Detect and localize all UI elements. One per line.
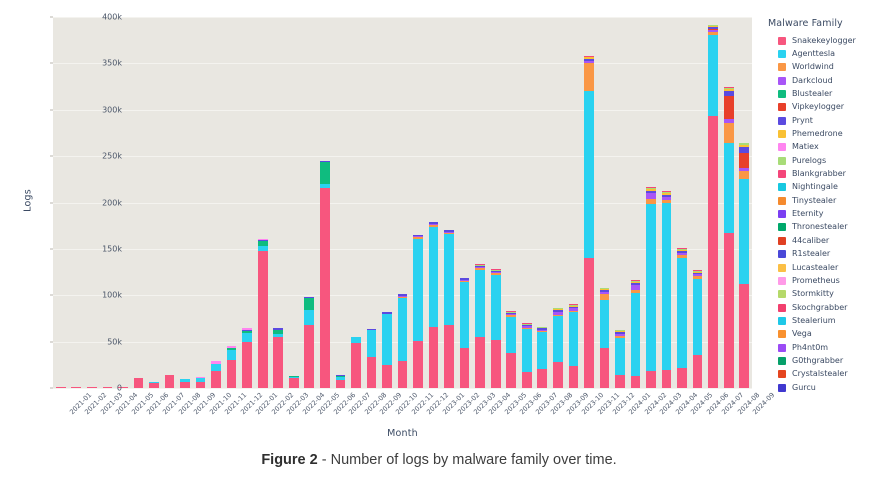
- bar-segment[interactable]: [537, 369, 547, 388]
- bar-segment[interactable]: [460, 348, 470, 388]
- bar-column[interactable]: [677, 248, 687, 388]
- bar-segment[interactable]: [429, 327, 439, 388]
- bar-segment[interactable]: [444, 234, 454, 325]
- legend-color-swatch-icon: [778, 290, 786, 298]
- legend-item[interactable]: Blustealer: [764, 87, 878, 100]
- bar-segment[interactable]: [336, 380, 346, 388]
- legend-item-label: Tinystealer: [792, 197, 836, 205]
- legend-item-label: Worldwind: [792, 63, 834, 71]
- gridline: [53, 63, 752, 64]
- legend-item-label: Agenttesla: [792, 50, 835, 58]
- legend-item[interactable]: Vipkeylogger: [764, 101, 878, 114]
- legend-item[interactable]: Tinystealer: [764, 194, 878, 207]
- bar-segment[interactable]: [724, 96, 734, 119]
- y-tick-mark: [50, 109, 53, 110]
- bar-segment[interactable]: [662, 370, 672, 388]
- legend-item-label: Snakekeylogger: [792, 37, 856, 45]
- bar-column[interactable]: [180, 379, 190, 388]
- legend-color-swatch-icon: [778, 357, 786, 365]
- bar-segment[interactable]: [475, 337, 485, 388]
- bar-column[interactable]: [336, 375, 346, 388]
- legend-title: Malware Family: [768, 18, 878, 29]
- bar-segment[interactable]: [413, 341, 423, 388]
- bar-column[interactable]: [149, 382, 159, 388]
- legend-color-swatch-icon: [778, 317, 786, 325]
- bar-segment[interactable]: [739, 153, 749, 168]
- bar-column[interactable]: [242, 328, 252, 388]
- bar-segment[interactable]: [600, 348, 610, 388]
- bar-column[interactable]: [600, 288, 610, 389]
- bar-segment[interactable]: [273, 337, 283, 388]
- legend-color-swatch-icon: [778, 90, 786, 98]
- legend-item-label: Vipkeylogger: [792, 103, 844, 111]
- bar-segment[interactable]: [708, 35, 718, 117]
- bar-column[interactable]: [475, 264, 485, 388]
- legend-color-swatch-icon: [778, 117, 786, 125]
- legend-color-swatch-icon: [778, 63, 786, 71]
- bar-column[interactable]: [304, 297, 314, 388]
- bar-segment[interactable]: [491, 275, 501, 340]
- legend-item-label: Ph4nt0m: [792, 344, 828, 352]
- bar-segment[interactable]: [615, 375, 625, 388]
- legend-color-swatch-icon: [778, 304, 786, 312]
- bar-segment[interactable]: [165, 375, 175, 388]
- legend-items: SnakekeyloggerAgentteslaWorldwindDarkclo…: [764, 34, 878, 394]
- bar-segment[interactable]: [506, 317, 516, 353]
- legend-item-label: Blustealer: [792, 90, 832, 98]
- bar-segment[interactable]: [631, 293, 641, 376]
- bar-segment[interactable]: [677, 258, 687, 367]
- bar-segment[interactable]: [522, 372, 532, 388]
- legend-item-label: Crystalstealer: [792, 370, 848, 378]
- y-tick-mark: [50, 388, 53, 389]
- bar-column[interactable]: [289, 376, 299, 388]
- legend-item[interactable]: R1stealer: [764, 248, 878, 261]
- legend-item[interactable]: Matiex: [764, 141, 878, 154]
- legend-color-swatch-icon: [778, 103, 786, 111]
- legend-item-label: R1stealer: [792, 250, 830, 258]
- legend-color-swatch-icon: [778, 170, 786, 178]
- bar-segment[interactable]: [584, 91, 594, 258]
- bar-column[interactable]: [258, 239, 268, 388]
- bar-segment[interactable]: [320, 188, 330, 388]
- legend-item[interactable]: Skochgrabber: [764, 301, 878, 314]
- legend-item[interactable]: Lucastealer: [764, 261, 878, 274]
- legend-item-label: G0thgrabber: [792, 357, 843, 365]
- legend-item[interactable]: Stealerium: [764, 314, 878, 327]
- legend-color-swatch-icon: [778, 237, 786, 245]
- y-tick-mark: [50, 17, 53, 18]
- legend-item[interactable]: G0thgrabber: [764, 354, 878, 367]
- bar-segment[interactable]: [196, 382, 206, 388]
- bar-column[interactable]: [693, 270, 703, 388]
- legend-item-label: Lucastealer: [792, 264, 838, 272]
- y-tick-mark: [50, 202, 53, 203]
- bar-segment[interactable]: [351, 343, 361, 388]
- y-tick-label: 250k: [76, 152, 122, 161]
- legend-color-swatch-icon: [778, 183, 786, 191]
- bar-segment[interactable]: [615, 338, 625, 375]
- legend-color-swatch-icon: [778, 143, 786, 151]
- legend-item-label: Skochgrabber: [792, 304, 847, 312]
- bar-segment[interactable]: [211, 371, 221, 388]
- legend-item[interactable]: Gurcu: [764, 381, 878, 394]
- plot-area: [53, 17, 752, 388]
- bar-segment[interactable]: [242, 333, 252, 342]
- legend-item-label: Blankgrabber: [792, 170, 846, 178]
- figure-label: Figure 2: [261, 452, 317, 468]
- bar-segment[interactable]: [491, 340, 501, 388]
- legend-color-swatch-icon: [778, 130, 786, 138]
- legend-color-swatch-icon: [778, 157, 786, 165]
- legend-item[interactable]: Vega: [764, 328, 878, 341]
- legend-item-label: Nightingale: [792, 183, 838, 191]
- bar-segment[interactable]: [382, 365, 392, 388]
- legend-item[interactable]: Nightingale: [764, 181, 878, 194]
- bar-column[interactable]: [413, 235, 423, 388]
- legend-color-swatch-icon: [778, 77, 786, 85]
- bar-segment[interactable]: [569, 312, 579, 366]
- legend-color-swatch-icon: [778, 210, 786, 218]
- legend-color-swatch-icon: [778, 384, 786, 392]
- bar-segment[interactable]: [522, 329, 532, 373]
- bar-column[interactable]: [491, 269, 501, 388]
- y-tick-label: 200k: [76, 198, 122, 207]
- bar-segment[interactable]: [413, 239, 423, 341]
- bar-segment[interactable]: [320, 162, 330, 184]
- x-axis-title: Month: [53, 428, 752, 439]
- bar-segment[interactable]: [227, 350, 237, 361]
- bar-column[interactable]: [196, 377, 206, 388]
- bar-segment[interactable]: [646, 371, 656, 388]
- bar-column[interactable]: [522, 323, 532, 388]
- legend-item[interactable]: Prometheus: [764, 274, 878, 287]
- bar-segment[interactable]: [304, 325, 314, 388]
- gridline: [53, 156, 752, 157]
- bar-segment[interactable]: [258, 251, 268, 388]
- legend-item[interactable]: Prynt: [764, 114, 878, 127]
- legend-item[interactable]: Phemedrone: [764, 127, 878, 140]
- bar-segment[interactable]: [724, 143, 734, 233]
- y-tick-label: 150k: [76, 244, 122, 253]
- bar-segment[interactable]: [398, 361, 408, 388]
- bar-segment[interactable]: [289, 378, 299, 388]
- legend-item-label: Gurcu: [792, 384, 816, 392]
- legend-item[interactable]: Worldwind: [764, 61, 878, 74]
- bar-column[interactable]: [367, 329, 377, 388]
- legend: Malware Family SnakekeyloggerAgentteslaW…: [764, 18, 878, 394]
- legend-item-label: Eternity: [792, 210, 823, 218]
- bar-column[interactable]: [662, 191, 672, 388]
- y-tick-label: 0: [76, 384, 122, 393]
- bar-segment[interactable]: [506, 353, 516, 388]
- y-tick-mark: [50, 248, 53, 249]
- bar-column[interactable]: [398, 294, 408, 388]
- bar-column[interactable]: [227, 346, 237, 388]
- bar-column[interactable]: [165, 375, 175, 388]
- bar-segment[interactable]: [724, 123, 734, 143]
- bar-column[interactable]: [569, 304, 579, 388]
- bar-segment[interactable]: [693, 355, 703, 388]
- legend-color-swatch-icon: [778, 223, 786, 231]
- legend-item-label: Vega: [792, 330, 812, 338]
- legend-item-label: Matiex: [792, 143, 819, 151]
- legend-item-label: Prynt: [792, 117, 813, 125]
- bar-column[interactable]: [708, 25, 718, 388]
- figure-container: Logs 050k100k150k200k250k300k350k400k 20…: [0, 0, 878, 482]
- bar-segment[interactable]: [475, 270, 485, 337]
- bar-segment[interactable]: [646, 204, 656, 371]
- bar-segment[interactable]: [444, 325, 454, 388]
- legend-color-swatch-icon: [778, 264, 786, 272]
- legend-color-swatch-icon: [778, 344, 786, 352]
- bar-column[interactable]: [553, 308, 563, 388]
- legend-item[interactable]: Thronestealer: [764, 221, 878, 234]
- legend-item[interactable]: Agenttesla: [764, 47, 878, 60]
- legend-item[interactable]: Blankgrabber: [764, 167, 878, 180]
- legend-item-label: Thronestealer: [792, 223, 848, 231]
- bar-segment[interactable]: [677, 368, 687, 388]
- bar-segment[interactable]: [553, 362, 563, 388]
- bar-segment[interactable]: [584, 63, 594, 91]
- y-tick-label: 400k: [76, 13, 122, 22]
- legend-color-swatch-icon: [778, 277, 786, 285]
- bar-segment[interactable]: [631, 376, 641, 388]
- bar-column[interactable]: [382, 312, 392, 388]
- bar-segment[interactable]: [460, 282, 470, 348]
- legend-item[interactable]: Darkcloud: [764, 74, 878, 87]
- legend-color-swatch-icon: [778, 197, 786, 205]
- bar-column[interactable]: [506, 311, 516, 388]
- legend-item[interactable]: Purelogs: [764, 154, 878, 167]
- bar-segment[interactable]: [584, 258, 594, 388]
- bar-column[interactable]: [537, 327, 547, 388]
- bar-segment[interactable]: [180, 382, 190, 388]
- bar-segment[interactable]: [134, 378, 144, 388]
- legend-item-label: Purelogs: [792, 157, 826, 165]
- bar-segment[interactable]: [569, 366, 579, 388]
- y-tick-label: 100k: [76, 291, 122, 300]
- bar-column[interactable]: [320, 161, 330, 388]
- bar-segment[interactable]: [662, 203, 672, 370]
- bar-column[interactable]: [646, 187, 656, 388]
- bar-segment[interactable]: [693, 279, 703, 355]
- legend-color-swatch-icon: [778, 330, 786, 338]
- gridline: [53, 110, 752, 111]
- bar-segment[interactable]: [304, 298, 314, 310]
- bar-column[interactable]: [444, 230, 454, 388]
- bar-segment[interactable]: [56, 387, 66, 388]
- legend-item-label: Stealerium: [792, 317, 836, 325]
- bar-column[interactable]: [615, 330, 625, 388]
- legend-color-swatch-icon: [778, 250, 786, 258]
- bar-column[interactable]: [134, 378, 144, 388]
- bar-segment[interactable]: [242, 342, 252, 388]
- bar-segment[interactable]: [149, 383, 159, 388]
- bar-segment[interactable]: [367, 357, 377, 388]
- bar-segment[interactable]: [211, 364, 221, 371]
- caption-separator: -: [318, 452, 331, 468]
- bar-segment[interactable]: [429, 227, 439, 327]
- legend-color-swatch-icon: [778, 50, 786, 58]
- legend-item[interactable]: Stormkitty: [764, 288, 878, 301]
- legend-item[interactable]: 44caliber: [764, 234, 878, 247]
- bar-column[interactable]: [56, 387, 66, 388]
- bar-segment[interactable]: [382, 314, 392, 365]
- bar-segment[interactable]: [600, 300, 610, 348]
- bar-column[interactable]: [273, 328, 283, 388]
- bar-column[interactable]: [584, 56, 594, 388]
- bar-segment[interactable]: [708, 116, 718, 388]
- y-tick-mark: [50, 341, 53, 342]
- y-axis-title: Logs: [23, 171, 34, 231]
- legend-item-label: Darkcloud: [792, 77, 833, 85]
- bar-segment[interactable]: [739, 179, 749, 284]
- bar-column[interactable]: [460, 278, 470, 388]
- y-tick-label: 50k: [76, 337, 122, 346]
- legend-item-label: 44caliber: [792, 237, 829, 245]
- bar-column[interactable]: [739, 143, 749, 388]
- bar-column[interactable]: [724, 87, 734, 388]
- bar-column[interactable]: [429, 222, 439, 388]
- figure-caption: Figure 2 - Number of logs by malware fam…: [0, 452, 878, 468]
- y-tick-mark: [50, 295, 53, 296]
- legend-item[interactable]: Crystalstealer: [764, 368, 878, 381]
- gridline: [53, 17, 752, 18]
- y-tick-mark: [50, 156, 53, 157]
- bar-segment[interactable]: [398, 298, 408, 361]
- gridline: [53, 388, 752, 389]
- caption-text: Number of logs by malware family over ti…: [331, 452, 617, 468]
- bar-segment[interactable]: [724, 233, 734, 388]
- bar-column[interactable]: [631, 280, 641, 388]
- legend-item[interactable]: Ph4nt0m: [764, 341, 878, 354]
- legend-color-swatch-icon: [778, 37, 786, 45]
- legend-item-label: Stormkitty: [792, 290, 834, 298]
- bar-segment[interactable]: [537, 332, 547, 369]
- legend-item-label: Prometheus: [792, 277, 840, 285]
- legend-item[interactable]: Eternity: [764, 207, 878, 220]
- legend-item[interactable]: Snakekeylogger: [764, 34, 878, 47]
- y-tick-label: 300k: [76, 105, 122, 114]
- legend-color-swatch-icon: [778, 370, 786, 378]
- bar-segment[interactable]: [227, 360, 237, 388]
- bar-segment[interactable]: [553, 316, 563, 362]
- bar-segment[interactable]: [739, 284, 749, 388]
- bar-column[interactable]: [211, 361, 221, 388]
- bar-column[interactable]: [351, 337, 361, 388]
- y-tick-label: 350k: [76, 59, 122, 68]
- bar-segment[interactable]: [304, 310, 314, 325]
- bar-segment[interactable]: [739, 171, 749, 179]
- legend-item-label: Phemedrone: [792, 130, 843, 138]
- bar-segment[interactable]: [367, 330, 377, 358]
- y-tick-mark: [50, 63, 53, 64]
